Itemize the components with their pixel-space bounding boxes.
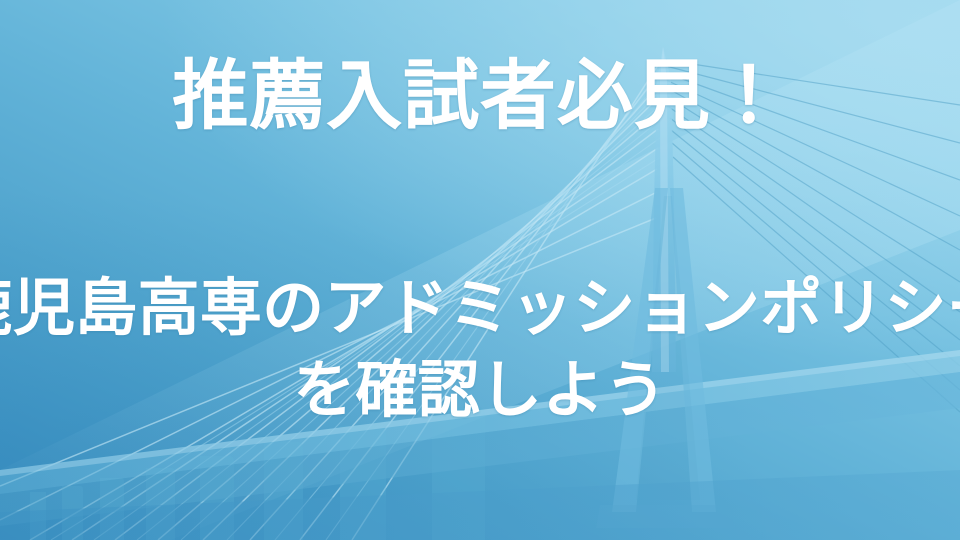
subtitle-line-1: 鹿児島高専のアドミッションポリシー: [0, 267, 960, 349]
title-slide: 推薦入試者必見！ 鹿児島高専のアドミッションポリシー を確認しよう: [0, 0, 960, 540]
slide-text-block: 推薦入試者必見！ 鹿児島高専のアドミッションポリシー を確認しよう: [0, 0, 960, 540]
page-title: 推薦入試者必見！: [172, 58, 787, 134]
subtitle: 鹿児島高専のアドミッションポリシー を確認しよう: [0, 267, 960, 431]
subtitle-line-2: を確認しよう: [0, 349, 960, 431]
